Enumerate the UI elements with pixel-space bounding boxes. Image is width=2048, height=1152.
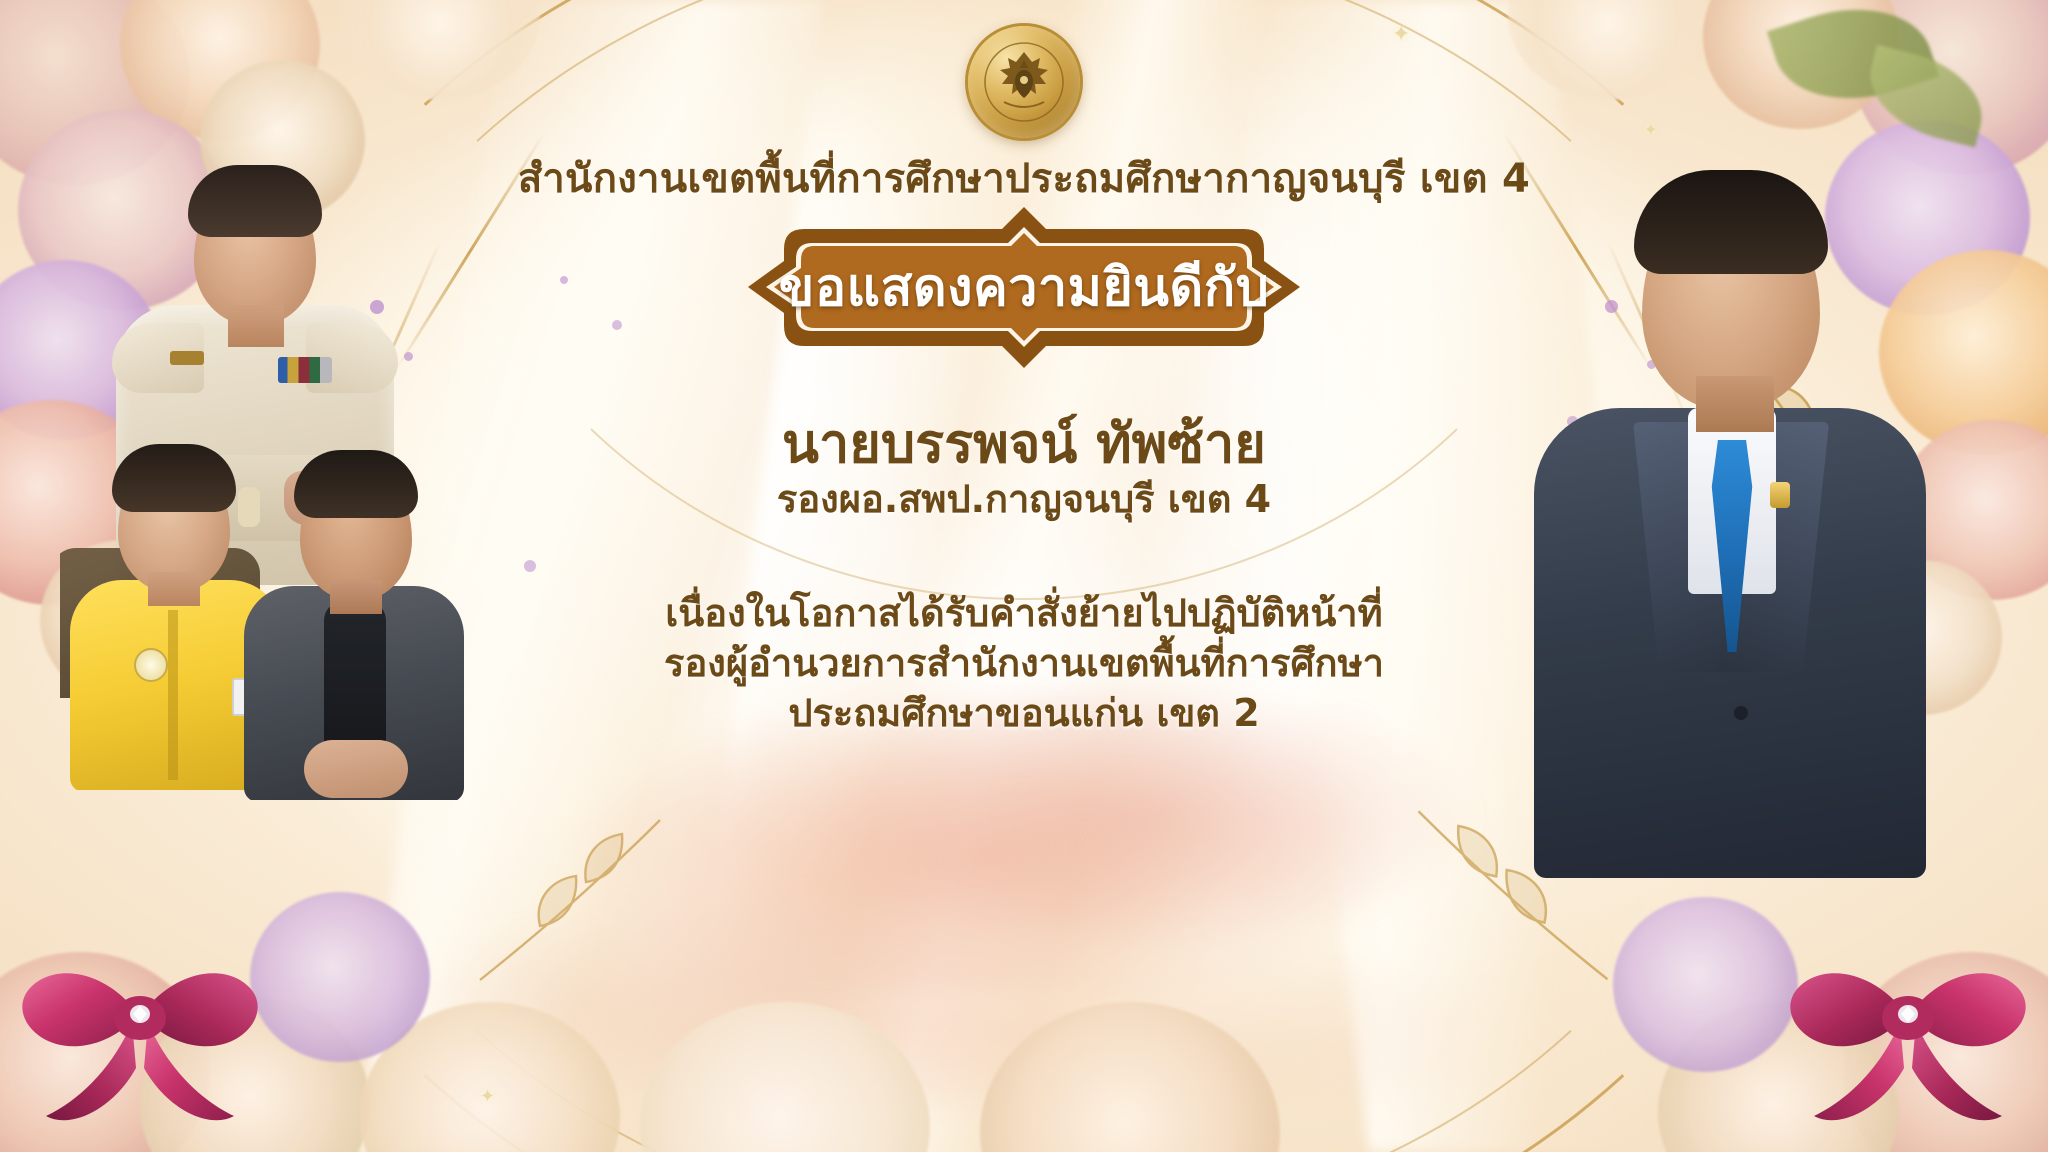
hands-clasped — [304, 740, 408, 798]
office-title: สำนักงานเขตพื้นที่การศึกษาประถมศึกษากาญจ… — [0, 146, 2048, 210]
ribbon-bow-icon — [1778, 918, 2038, 1148]
ribbon-bow-icon — [10, 918, 270, 1148]
sparkle-icon: ✦ — [1644, 120, 1657, 139]
speckle-dot — [404, 352, 413, 361]
plaque-text: ขอแสดงความยินดีกับ — [724, 205, 1324, 370]
honoree-role: รองผอ.สพป.กาญจนบุรี เขต 4 — [0, 468, 2048, 529]
floral-bottom-right-purple — [1613, 897, 1798, 1072]
sparkle-icon: ✦ — [1392, 22, 1410, 47]
reason-paragraph: เนื่องในโอกาสได้รับคำสั่งย้ายไปปฏิบัติหน… — [0, 588, 2048, 738]
reason-line-2: รองผู้อำนวยการสำนักงานเขตพื้นที่การศึกษา — [0, 638, 2048, 688]
uniform-insignia-left — [170, 351, 204, 365]
floral-bottom-left-purple — [250, 892, 430, 1062]
reason-line-3: ประถมศึกษาขอนแก่น เขต 2 — [0, 688, 2048, 738]
uniform-officer-neck — [228, 305, 284, 347]
poster-canvas: ✦ ✦ ✦ ✦ — [0, 0, 2048, 1152]
speckle-dot — [560, 276, 568, 284]
uniform-ribbon-bar — [278, 357, 332, 383]
reason-line-1: เนื่องในโอกาสได้รับคำสั่งย้ายไปปฏิบัติหน… — [0, 588, 2048, 638]
gold-leaf-sprig-bottom-left — [470, 800, 670, 990]
obec-garuda-seal-icon — [968, 26, 1080, 138]
congratulations-plaque: ขอแสดงความยินดีกับ — [724, 205, 1324, 370]
sparkle-icon: ✦ — [480, 1086, 495, 1107]
speckle-dot — [524, 560, 536, 572]
speckle-dot — [612, 320, 622, 330]
